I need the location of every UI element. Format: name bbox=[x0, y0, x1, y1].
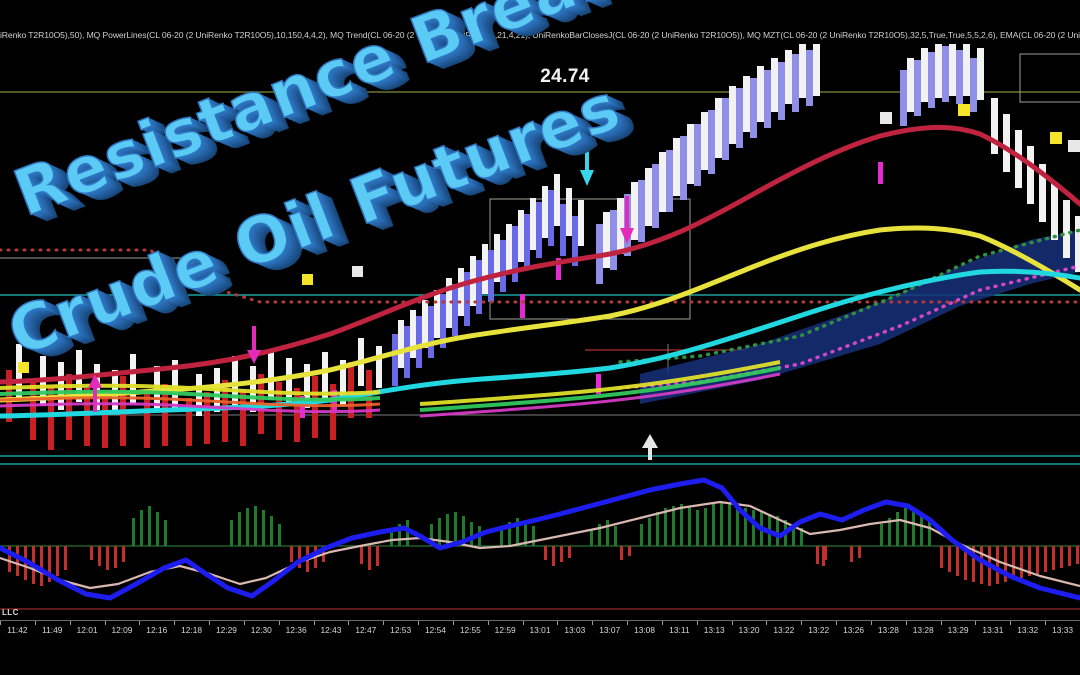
marker-yellow-square bbox=[18, 362, 29, 373]
llc-watermark: LLC bbox=[2, 608, 19, 617]
volume-strip bbox=[0, 608, 1080, 620]
marker-white-square bbox=[352, 266, 363, 277]
volume-canvas bbox=[0, 608, 1080, 620]
trading-chart-screenshot: iRenko T2R10O5),50), MQ PowerLines(CL 06… bbox=[0, 0, 1080, 675]
marker-white-square bbox=[880, 112, 892, 124]
price-pane-canvas bbox=[0, 44, 1080, 460]
price-label: 24.74 bbox=[506, 64, 624, 90]
indicator-legend-text: iRenko T2R10O5),50), MQ PowerLines(CL 06… bbox=[0, 28, 1080, 43]
marker-yellow-square bbox=[958, 104, 970, 116]
marker-white-square bbox=[60, 336, 71, 347]
time-axis[interactable]: 11:4211:4912:0112:0912:1612:1812:2912:30… bbox=[0, 620, 1080, 648]
oscillator-pane bbox=[0, 462, 1080, 608]
marker-yellow-square bbox=[1050, 132, 1062, 144]
axis-time-label: 13:33 bbox=[1043, 625, 1080, 635]
bottom-letterbox-band bbox=[0, 647, 1080, 675]
marker-white-square bbox=[1068, 140, 1080, 152]
top-letterbox-band bbox=[0, 0, 1080, 28]
oscillator-canvas bbox=[0, 462, 1080, 608]
marker-yellow-square bbox=[302, 274, 313, 285]
price-pane bbox=[0, 44, 1080, 460]
